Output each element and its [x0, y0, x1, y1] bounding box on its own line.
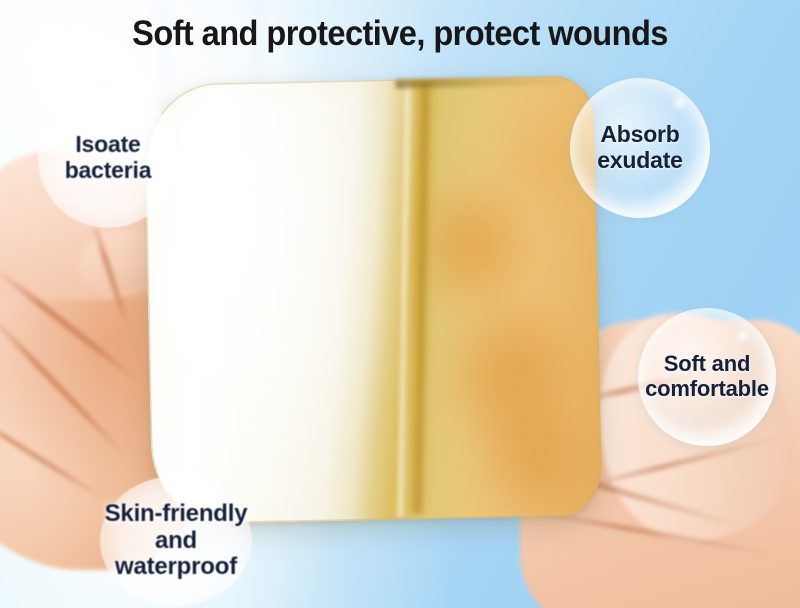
callout-bubble-skin-friendly-waterproof: Skin-friendly and waterproof: [100, 476, 252, 606]
callout-label-isolate-bacteria: Isoate bacteria: [65, 132, 152, 184]
callout-bubble-absorb-exudate: Absorb exudate: [570, 78, 710, 218]
callout-bubble-isolate-bacteria: Isoate bacteria: [38, 88, 178, 228]
bubble-highlight-icon: [735, 330, 750, 342]
product-feature-banner: Isoate bacteria Absorb exudate Soft and …: [0, 0, 800, 608]
callout-label-soft-and-comfortable: Soft and comfortable: [638, 352, 776, 401]
callout-label-skin-friendly-waterproof: Skin-friendly and waterproof: [100, 501, 252, 582]
bubble-highlight-icon: [672, 96, 688, 109]
pad-outline: [143, 75, 602, 524]
wound-dressing-pad: [143, 75, 602, 524]
page-title: Soft and protective, protect wounds: [28, 14, 772, 54]
callout-label-absorb-exudate: Absorb exudate: [597, 122, 683, 174]
callout-bubble-soft-and-comfortable: Soft and comfortable: [638, 308, 776, 446]
